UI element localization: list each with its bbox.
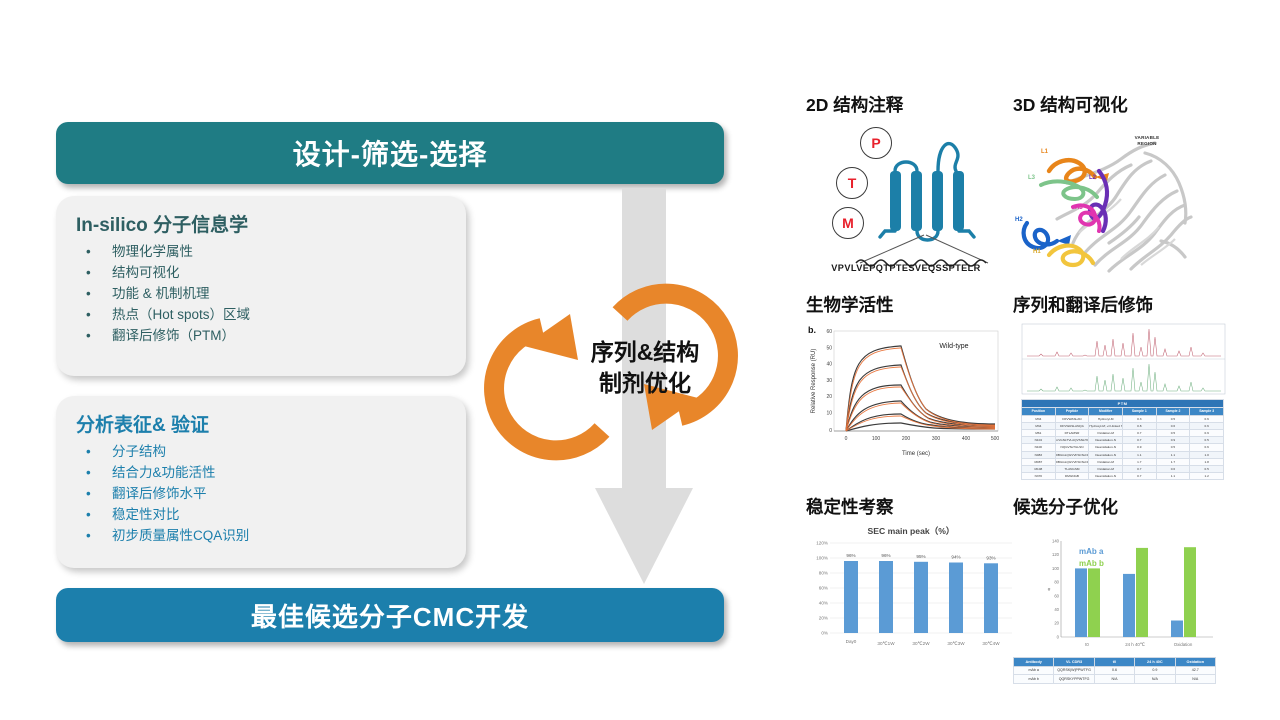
chart-xlabel: Time (sec) — [902, 451, 930, 457]
svg-text:40%: 40% — [819, 601, 828, 606]
table-candidate: Antibody VL CDR3 t0 24 h 40C Oxidation m… — [1013, 657, 1216, 684]
list-item: •功能 & 机制机理 — [76, 283, 446, 304]
card-analytical-characterization: 分析表征& 验证 •分子结构 •结合力&功能活性 •翻译后修饰水平 •稳定性对比… — [56, 396, 466, 568]
list-item-label: 翻译后修饰水平 — [112, 486, 207, 501]
bullet-icon: • — [86, 241, 91, 262]
svg-text:100: 100 — [1052, 566, 1060, 571]
col-peptide: Peptide — [1055, 408, 1089, 415]
col-antibody: Antibody — [1014, 658, 1054, 667]
col-vl-cdr3: VL CDR3 — [1054, 658, 1094, 667]
chart-ylabel: Relative Response (RU) — [811, 349, 817, 414]
panel-3d-structure: 3D 结构可视化 — [1013, 92, 1198, 278]
list-item: •结构可视化 — [76, 262, 446, 283]
svg-text:96%: 96% — [881, 553, 890, 558]
list-item: •稳定性对比 — [76, 504, 446, 525]
svg-text:0%: 0% — [821, 631, 828, 636]
panel-bioactivity: 生物学活性 b. 6050 4030 2010 0 0100 200300 40… — [806, 292, 1006, 463]
svg-text:80: 80 — [1054, 580, 1059, 585]
chart-candidate-optimization: 140120 10080 6040 200 # t0 24 h — [1013, 525, 1218, 655]
svg-text:20%: 20% — [819, 616, 828, 621]
chart-ylabel: # — [1048, 587, 1051, 592]
svg-text:93%: 93% — [986, 555, 995, 560]
cdr-label-l2: L2 — [1089, 175, 1096, 181]
bullet-icon: • — [86, 325, 91, 346]
list-item: •物理化学属性 — [76, 241, 446, 262]
svg-text:96%: 96% — [846, 553, 855, 558]
list-item: •结合力&功能活性 — [76, 462, 446, 483]
svg-text:120%: 120% — [816, 541, 828, 546]
list-item: •热点（Hot spots）区域 — [76, 304, 446, 325]
table-ptm-body: M34DFVWASLANHydroxyl-M0.30.50.6 M34DFVWA… — [1022, 415, 1224, 480]
table-row: M61DTLAMSROxidation-M0.70.50.9 — [1022, 429, 1224, 436]
list-item-label: 初步质量属性CQA识别 — [112, 528, 249, 543]
bullet-icon: • — [86, 304, 91, 325]
panel-candidate-title: 候选分子优化 — [1013, 494, 1218, 519]
svg-text:0: 0 — [845, 436, 848, 442]
bullet-icon: • — [86, 525, 91, 546]
svg-text:60: 60 — [1054, 593, 1059, 598]
table-row: N370DMGNGBDeamidation-N0.71.11.2 — [1022, 473, 1224, 480]
list-item: •翻译后修饰（PTM） — [76, 325, 446, 346]
chart-spr-sensorgram: b. 6050 4030 2010 0 0100 200300 400500 — [806, 323, 1006, 463]
col-sample-1: Sample 1 — [1122, 408, 1156, 415]
cdr-label-h2: H2 — [1015, 217, 1023, 223]
panel-2d-structure: 2D 结构注释 — [806, 92, 996, 283]
panel-stability-title: 稳定性考察 — [806, 494, 1016, 519]
svg-text:95%: 95% — [916, 554, 925, 559]
svg-text:100%: 100% — [816, 556, 828, 561]
panel-bioactivity-title: 生物学活性 — [806, 292, 1006, 317]
svg-text:Day0: Day0 — [846, 639, 857, 644]
list-item-label: 结合力&功能活性 — [112, 465, 216, 480]
svg-text:60: 60 — [826, 329, 832, 335]
chart-sec-main-peak: SEC main peak（%） 120%100% 80%60% 40%20% — [806, 525, 1016, 660]
panel-3d-title: 3D 结构可视化 — [1013, 92, 1198, 117]
col-sample-2: Sample 2 — [1156, 408, 1190, 415]
svg-text:80%: 80% — [819, 571, 828, 576]
panel-ptm: 序列和翻译后修饰 PTM Position Peptide — [1013, 292, 1226, 480]
stage-header-design-screen-select: 设计-筛选-选择 — [56, 122, 724, 184]
svg-text:24 h 40℃: 24 h 40℃ — [1125, 642, 1145, 647]
stage-footer-cmc-development: 最佳候选分子CMC开发 — [56, 588, 724, 642]
table-header-row: Antibody VL CDR3 t0 24 h 40C Oxidation — [1014, 658, 1216, 667]
svg-text:100: 100 — [872, 436, 881, 442]
list-item-label: 分子结构 — [112, 444, 166, 459]
legend-mab-a: mAb a — [1079, 547, 1103, 556]
figure-2d-structure: P T M VPVLVEPQTPTESVEQSSPTELR — [816, 123, 996, 283]
ptm-mark-t: T — [836, 167, 868, 199]
list-item: •分子结构 — [76, 441, 446, 462]
svg-text:10: 10 — [826, 411, 832, 417]
cycle-label-line1: 序列&结构 — [591, 337, 700, 368]
svg-text:0: 0 — [1057, 634, 1060, 639]
svg-text:400: 400 — [962, 436, 971, 442]
svg-text:120: 120 — [1052, 552, 1060, 557]
table-header-row: Position Peptide Modifier Sample 1 Sampl… — [1022, 408, 1224, 415]
table-row: M087DBGGLQGVVFSCSLNLNAB ALVHSNVTQKOxidat… — [1022, 458, 1224, 465]
figure-3d-antibody-ribbon: VARIABLE REGION L1 L2 L3 H1 H2 H3 — [1013, 123, 1198, 278]
svg-text:40: 40 — [826, 362, 832, 368]
card-in-silico: In-silico 分子信息学 •物理化学属性 •结构可视化 •功能 & 机制机… — [56, 196, 466, 376]
col-sample-3: Sample 3 — [1190, 408, 1224, 415]
svg-text:Oxidation: Oxidation — [1174, 642, 1193, 647]
svg-text:0: 0 — [829, 428, 832, 434]
svg-text:500: 500 — [991, 436, 1000, 442]
table-candidate-body: mAb aQQRSK|W|PPWTFG0.60.942.7 mAb bQQRSK… — [1014, 666, 1216, 683]
chart-peptide-map-chromatogram — [1021, 323, 1226, 395]
cdr-label-l3: L3 — [1028, 175, 1035, 181]
table-row: N100NQGVSLTGLSNDeamidation-N0.90.50.6 — [1022, 444, 1224, 451]
svg-text:20: 20 — [826, 394, 832, 400]
svg-text:t0: t0 — [1085, 642, 1089, 647]
variable-region-label: VARIABLE REGION — [1123, 135, 1171, 146]
svg-text:300: 300 — [932, 436, 941, 442]
svg-text:200: 200 — [902, 436, 911, 442]
svg-text:30℃2W: 30℃2W — [912, 641, 930, 646]
cdr-label-h1: H1 — [1033, 249, 1041, 255]
table-row: mAb aQQRSK|W|PPWTFG0.60.942.7 — [1014, 666, 1216, 675]
panel-2d-title: 2D 结构注释 — [806, 92, 996, 117]
card-in-silico-list: •物理化学属性 •结构可视化 •功能 & 机制机理 •热点（Hot spots）… — [76, 241, 446, 346]
list-item: •翻译后修饰水平 — [76, 483, 446, 504]
panel-candidate-optimization: 候选分子优化 140120 10080 6040 200 # — [1013, 494, 1218, 684]
list-item-label: 结构可视化 — [112, 265, 180, 280]
col-oxidation: Oxidation — [1175, 658, 1215, 667]
col-t0: t0 — [1094, 658, 1134, 667]
bullet-icon: • — [86, 504, 91, 525]
table-row: M108TLANGSMOxidation-M0.70.60.5 — [1022, 465, 1224, 472]
cycle-center-label: 序列&结构 制剂优化 — [546, 322, 744, 414]
table-row: mAb bQQRSKYPPWTFGN/AN/AN/A — [1014, 675, 1216, 684]
table-ptm: PTM Position Peptide Modifier Sample 1 S… — [1021, 399, 1224, 480]
bullet-icon: • — [86, 283, 91, 304]
bullet-icon: • — [86, 483, 91, 504]
list-item-label: 物理化学属性 — [112, 244, 193, 259]
svg-text:40: 40 — [1054, 607, 1059, 612]
top-bar-label: 设计-筛选-选择 — [293, 133, 488, 173]
list-item-label: 功能 & 机制机理 — [112, 286, 210, 301]
card-analytical-list: •分子结构 •结合力&功能活性 •翻译后修饰水平 •稳定性对比 •初步质量属性C… — [76, 441, 446, 546]
list-item-label: 热点（Hot spots）区域 — [112, 307, 250, 322]
list-item: •初步质量属性CQA识别 — [76, 525, 446, 546]
list-item-label: 翻译后修饰（PTM） — [112, 328, 235, 343]
cycle-label-line2: 制剂优化 — [599, 368, 691, 399]
svg-text:30℃3W: 30℃3W — [947, 641, 965, 646]
ptm-mark-m: M — [832, 207, 864, 239]
slide-canvas: 设计-筛选-选择 In-silico 分子信息学 •物理化学属性 •结构可视化 … — [0, 0, 1280, 720]
bullet-icon: • — [86, 262, 91, 283]
ptm-mark-p: P — [860, 127, 892, 159]
table-row: M34DFVWASLANQAHydroxyl-M; +O-linked Hex0… — [1022, 422, 1224, 429]
table-row: N083DBGGLQGVVFSCSLNLNAB ALVHSNVTQKDeamid… — [1022, 451, 1224, 458]
table-row: N104mVGNLTVLAQVSNLHGNDeamidation-N0.70.9… — [1022, 437, 1224, 444]
col-modifier: Modifier — [1089, 408, 1123, 415]
svg-text:60%: 60% — [819, 586, 828, 591]
svg-text:94%: 94% — [951, 555, 960, 560]
table-ptm-title: PTM — [1022, 400, 1224, 408]
card-analytical-title: 分析表征& 验证 — [76, 410, 446, 437]
svg-text:140: 140 — [1052, 539, 1060, 544]
svg-text:50: 50 — [826, 345, 832, 351]
legend-mab-b: mAb b — [1079, 559, 1104, 568]
chart-annotation-wild-type: Wild-type — [939, 343, 968, 350]
bottom-bar-label: 最佳候选分子CMC开发 — [251, 597, 529, 634]
card-in-silico-title: In-silico 分子信息学 — [76, 210, 446, 237]
col-position: Position — [1022, 408, 1056, 415]
svg-text:30: 30 — [826, 378, 832, 384]
cdr-label-h3: H3 — [1075, 205, 1083, 211]
col-24h-40c: 24 h 40C — [1135, 658, 1175, 667]
bullet-icon: • — [86, 462, 91, 483]
svg-text:20: 20 — [1054, 621, 1059, 626]
table-row: M34DFVWASLANHydroxyl-M0.30.50.6 — [1022, 415, 1224, 422]
panel-stability: 稳定性考察 SEC main peak（%） 120%100% 80%60% — [806, 494, 1016, 660]
peptide-sequence-label: VPVLVEPQTPTESVEQSSPTELR — [816, 263, 996, 273]
list-item-label: 稳定性对比 — [112, 507, 180, 522]
bullet-icon: • — [86, 441, 91, 462]
svg-text:30℃1W: 30℃1W — [877, 641, 895, 646]
panel-ptm-title: 序列和翻译后修饰 — [1013, 292, 1226, 317]
svg-text:30℃4W: 30℃4W — [982, 641, 1000, 646]
cdr-label-l1: L1 — [1041, 149, 1048, 155]
